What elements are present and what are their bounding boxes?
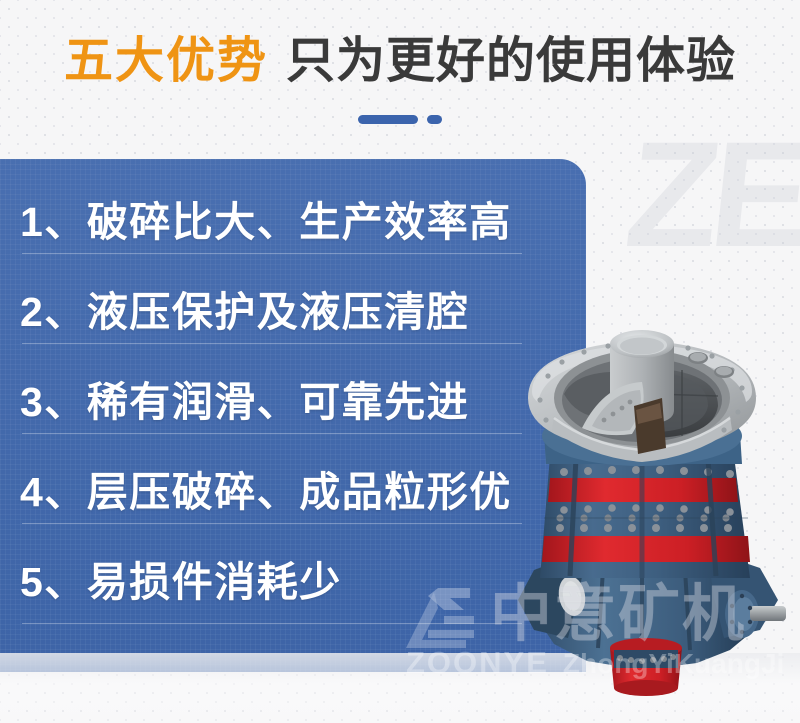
list-divider	[22, 523, 522, 524]
list-divider	[22, 343, 522, 344]
list-item: 5、 易损件消耗少	[20, 551, 342, 613]
title-highlight: 五大优势	[64, 34, 268, 88]
promo-banner: ZE 五大优势只为更好的使用体验	[0, 0, 800, 723]
list-item: 2、 液压保护及液压清腔	[20, 281, 469, 343]
list-item-number: 1、	[20, 191, 87, 253]
cone-crusher-illustration	[492, 278, 792, 708]
divider-dot	[427, 115, 442, 124]
divider-bar	[358, 115, 418, 124]
list-item-label: 破碎比大、生产效率高	[87, 191, 512, 253]
list-item-label: 液压保护及液压清腔	[87, 281, 470, 343]
list-item: 3、 稀有润滑、可靠先进	[20, 371, 469, 433]
list-item-label: 易损件消耗少	[87, 551, 342, 613]
header-divider	[0, 115, 800, 124]
list-item: 1、 破碎比大、生产效率高	[20, 191, 512, 253]
list-divider	[22, 623, 522, 624]
list-item-label: 稀有润滑、可靠先进	[87, 371, 470, 433]
list-item-number: 3、	[20, 371, 87, 433]
title-rest: 只为更好的使用体验	[286, 34, 736, 88]
list-item-label: 层压破碎、成品粒形优	[87, 461, 512, 523]
list-item-number: 2、	[20, 281, 87, 343]
list-divider	[22, 433, 522, 434]
page-title: 五大优势只为更好的使用体验	[0, 30, 800, 92]
list-divider	[22, 253, 522, 254]
list-item-number: 4、	[20, 461, 87, 523]
list-item-number: 5、	[20, 551, 87, 613]
header: 五大优势只为更好的使用体验	[0, 30, 800, 140]
list-item: 4、 层压破碎、成品粒形优	[20, 461, 512, 523]
